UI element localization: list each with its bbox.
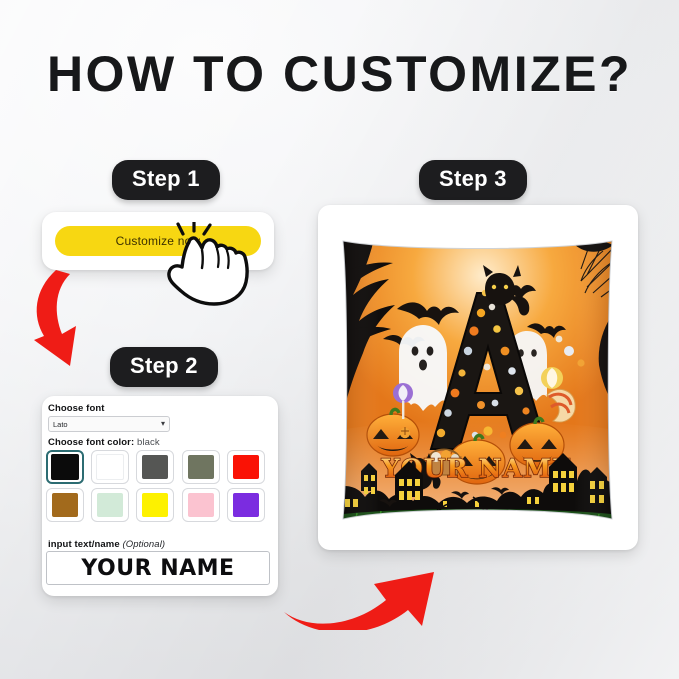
name-input-value: YOUR NAME <box>81 556 234 581</box>
color-swatch-mint[interactable] <box>91 488 129 522</box>
choose-font-color-label: Choose font color: black <box>48 437 160 448</box>
color-swatch-red[interactable] <box>227 450 265 484</box>
step-3-badge: Step 3 <box>419 160 527 200</box>
product-preview-blanket: YOUR NAME <box>335 235 620 525</box>
pointing-hand-click-icon <box>163 222 255 306</box>
curved-arrow-down-right-icon <box>26 268 122 368</box>
color-swatch-purple[interactable] <box>227 488 265 522</box>
color-swatch-brown[interactable] <box>46 488 84 522</box>
curved-arrow-up-right-icon <box>282 538 442 630</box>
input-text-name-text: input text/name <box>48 539 120 550</box>
color-swatch-sage-green[interactable] <box>182 450 220 484</box>
name-input[interactable]: YOUR NAME <box>46 551 270 585</box>
step-1-badge: Step 1 <box>112 160 220 200</box>
selected-color-value: black <box>137 437 160 448</box>
color-swatch-grid <box>46 450 268 522</box>
input-text-name-label: input text/name (Optional) <box>48 539 165 550</box>
choose-font-color-text: Choose font color: <box>48 437 134 448</box>
choose-font-label: Choose font <box>48 403 105 414</box>
color-swatch-pink[interactable] <box>182 488 220 522</box>
chevron-down-icon: ▾ <box>161 420 165 428</box>
color-swatch-yellow[interactable] <box>136 488 174 522</box>
font-select[interactable]: Lato ▾ <box>48 416 170 432</box>
color-swatch-dark-gray[interactable] <box>136 450 174 484</box>
input-optional-text: (Optional) <box>122 539 165 550</box>
step-2-badge: Step 2 <box>110 347 218 387</box>
color-swatch-black[interactable] <box>46 450 84 484</box>
color-swatch-white[interactable] <box>91 450 129 484</box>
page-title: HOW TO CUSTOMIZE? <box>0 45 679 103</box>
font-select-value: Lato <box>53 420 68 429</box>
